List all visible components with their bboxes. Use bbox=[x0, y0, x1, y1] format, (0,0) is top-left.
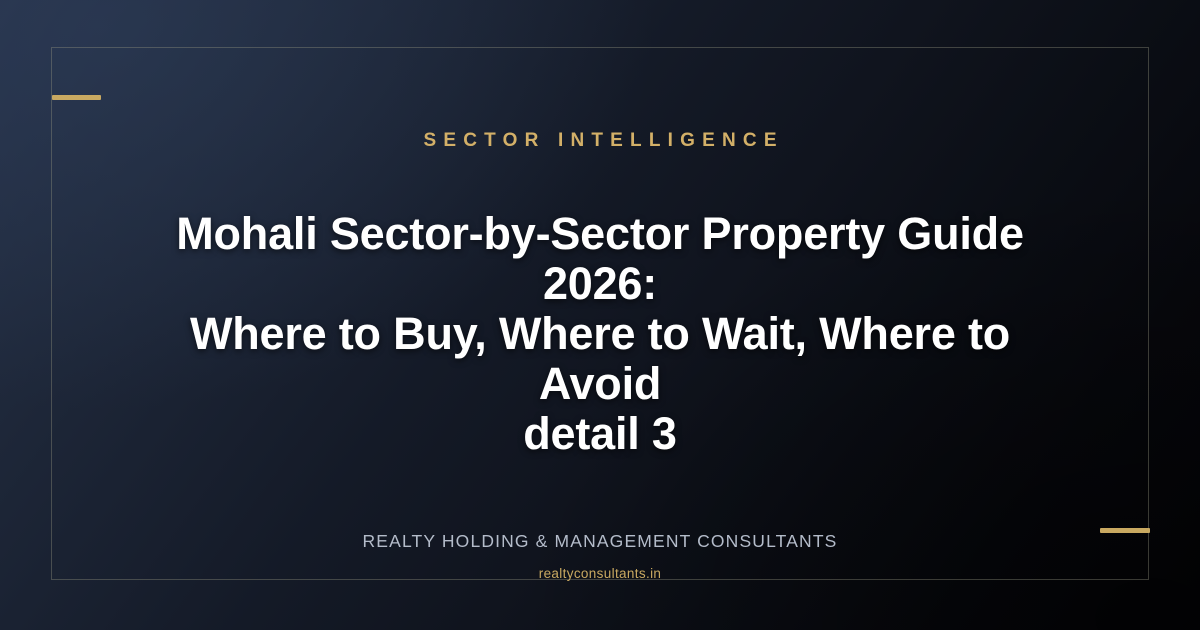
title-line-2: Where to Buy, Where to Wait, Where to Av… bbox=[135, 309, 1065, 409]
title-line-1: Mohali Sector-by-Sector Property Guide 2… bbox=[135, 209, 1065, 309]
card-footer: REALTY HOLDING & MANAGEMENT CONSULTANTS … bbox=[0, 531, 1200, 581]
website-url: realtyconsultants.in bbox=[0, 566, 1200, 581]
social-card: SECTOR INTELLIGENCE Mohali Sector-by-Sec… bbox=[0, 0, 1200, 630]
brand-name: REALTY HOLDING & MANAGEMENT CONSULTANTS bbox=[0, 531, 1200, 552]
title-line-3: detail 3 bbox=[135, 409, 1065, 459]
page-title: Mohali Sector-by-Sector Property Guide 2… bbox=[135, 209, 1065, 459]
eyebrow-label: SECTOR INTELLIGENCE bbox=[416, 130, 783, 152]
